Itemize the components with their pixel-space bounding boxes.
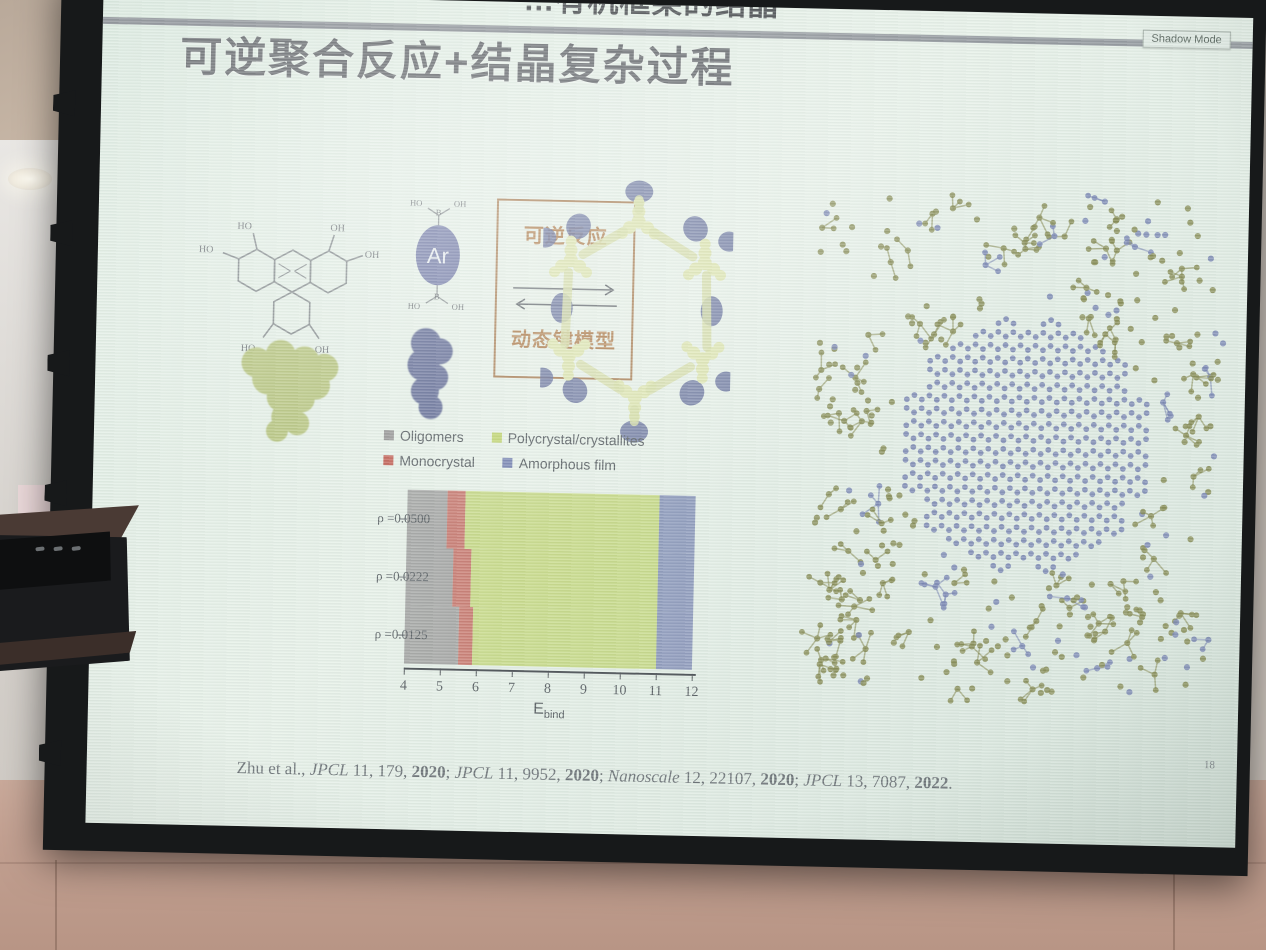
chart-x-tick-label: 8 — [544, 682, 551, 698]
citation-part: 2022 — [914, 773, 948, 793]
chart-x-tick-label: 4 — [400, 679, 407, 695]
bar-segment-amorphous-film — [658, 495, 695, 554]
lectern — [0, 495, 171, 704]
chart-legend: Oligomers Polycrystal/crystallites Monoc… — [383, 427, 714, 484]
svg-text:OH: OH — [452, 302, 464, 312]
svg-text:B: B — [434, 291, 440, 301]
label-oh: OH — [365, 250, 380, 261]
legend-swatch-icon — [383, 455, 393, 465]
bar-segment-polycrystal-crystallites — [464, 491, 660, 553]
slide-number: 18 — [1204, 759, 1215, 771]
chart-y-tick-mark — [400, 519, 407, 520]
chart-x-tick-mark — [440, 668, 441, 675]
floor-seam — [55, 860, 57, 950]
legend-item-oligomers: Oligomers — [384, 427, 464, 445]
bar-segment-monocrystal — [446, 491, 465, 549]
chart-x-tick-label: 9 — [580, 682, 587, 698]
shadow-mode-badge[interactable]: Shadow Mode — [1142, 30, 1231, 50]
legend-swatch-icon — [503, 458, 513, 468]
bar-segment-amorphous-film — [656, 611, 693, 670]
axis-title-sub: bind — [544, 709, 565, 721]
citation-part: Nanoscale — [608, 766, 680, 787]
chart-x-axis-title: Ebind — [403, 698, 695, 725]
reaction-scheme: HO HO OH OH HO OH — [189, 170, 714, 431]
projector-screen-frame: …有机框架的结晶 Shadow Mode 可逆聚合反应+结晶复杂过程 — [43, 0, 1266, 876]
bar-segment-monocrystal — [458, 607, 474, 665]
legend-swatch-icon — [492, 432, 502, 442]
legend-label: Monocrystal — [399, 452, 475, 470]
citation-part: Zhu et al., — [236, 758, 310, 779]
legend-row: Monocrystal Amorphous film — [383, 452, 713, 475]
chart-y-tick-mark — [399, 576, 406, 577]
linker-spacefill-model — [394, 324, 466, 421]
citation-part: JPCL — [454, 763, 493, 783]
chart-x-tick-mark — [512, 670, 513, 677]
chart-plot-area — [404, 490, 696, 674]
chart-x-tick-label: 6 — [472, 680, 479, 696]
svg-text:HO: HO — [410, 198, 422, 208]
legend-label: Amorphous film — [519, 455, 617, 473]
page-title: 可逆聚合反应+结晶复杂过程 — [180, 23, 736, 96]
chart-x-tick-label: 5 — [436, 679, 443, 695]
md-snapshot-canvas — [788, 168, 1250, 723]
bar-segment-amorphous-film — [657, 553, 694, 612]
chart-x-tick-mark — [656, 673, 657, 680]
md-simulation-snapshot — [788, 168, 1250, 723]
citation-part: JPCL — [803, 770, 842, 790]
dispersed-monomers — [798, 187, 1230, 710]
chart-x-tick-label: 12 — [684, 685, 698, 701]
label-ho: HO — [199, 244, 214, 255]
chart-x-tick-mark — [476, 669, 477, 676]
chart-x-tick-mark — [548, 671, 549, 678]
header-title: …有机框架的结晶 — [523, 0, 780, 25]
chart-x-tick-label: 10 — [612, 683, 626, 699]
bar-segment-monocrystal — [452, 549, 471, 607]
citation-part: 11, 179, — [348, 760, 412, 780]
hhtp-spacefill-model — [227, 336, 359, 444]
chart-x-tick-label: 7 — [508, 681, 515, 697]
ar-core-label: Ar — [427, 243, 450, 268]
svg-text:OH: OH — [454, 199, 466, 209]
bar-row — [405, 548, 694, 612]
chart-x-tick-mark — [692, 674, 693, 681]
citation-part: 13, 7087, — [842, 771, 915, 792]
bar-segment-polycrystal-crystallites — [472, 607, 657, 669]
bar-segment-polycrystal-crystallites — [470, 549, 658, 611]
axis-title-base: E — [533, 700, 544, 717]
phase-diagram-chart: ρ =0.0500ρ =0.0222ρ =0.0125 456789101112… — [288, 487, 723, 726]
chart-x-tick-label: 11 — [648, 684, 662, 700]
legend-label: Oligomers — [400, 427, 464, 444]
chart-x-tick-mark — [584, 672, 585, 679]
citation-text: Zhu et al., JPCL 11, 179, 2020; JPCL 11,… — [236, 758, 1236, 800]
legend-label: Polycrystal/crystallites — [508, 430, 645, 449]
citation-part: JPCL — [310, 760, 349, 780]
chart-x-tick-mark — [620, 672, 621, 679]
label-oh: OH — [330, 223, 345, 234]
citation-part: 2020 — [565, 765, 599, 785]
legend-swatch-icon — [384, 430, 394, 440]
chart-y-tick-mark — [398, 634, 405, 635]
citation-part: 2020 — [411, 762, 445, 782]
citation-part: 12, 22107, — [679, 768, 760, 789]
citation-part: ; — [445, 763, 454, 782]
citation-part: 2020 — [760, 769, 794, 789]
bar-row — [404, 606, 693, 670]
bar-row — [406, 490, 695, 554]
projection-surface: …有机框架的结晶 Shadow Mode 可逆聚合反应+结晶复杂过程 — [85, 0, 1253, 848]
svg-text:HO: HO — [408, 301, 420, 311]
citation-part: ; — [794, 770, 803, 789]
legend-item-amorphous: Amorphous film — [503, 455, 617, 473]
chart-x-tick-mark — [404, 668, 405, 675]
cof-pore-structure — [538, 168, 734, 462]
legend-item-polycrystal: Polycrystal/crystallites — [492, 429, 645, 448]
label-ho: HO — [237, 221, 252, 232]
ceiling-light — [8, 168, 52, 190]
legend-item-monocrystal: Monocrystal — [383, 452, 475, 470]
citation-part: 11, 9952, — [493, 764, 565, 785]
svg-text:B: B — [436, 207, 442, 217]
screenshot-stage: …有机框架的结晶 Shadow Mode 可逆聚合反应+结晶复杂过程 — [0, 0, 1266, 950]
citation-part: . — [948, 774, 953, 793]
